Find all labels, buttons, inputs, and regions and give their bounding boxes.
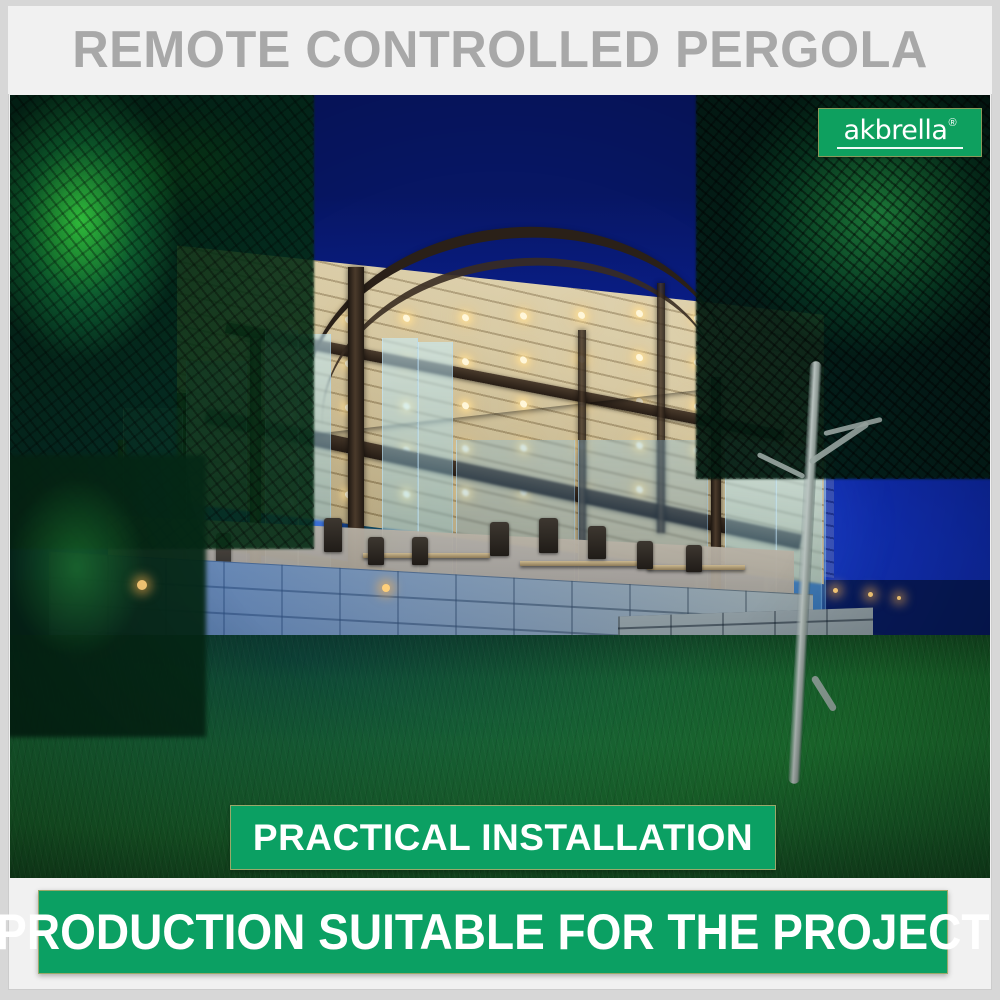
shrub-left bbox=[10, 455, 206, 737]
header-bar: REMOTE CONTROLLED PERGOLA bbox=[8, 6, 992, 94]
dining-chair bbox=[490, 522, 509, 556]
banner-practical-installation: PRACTICAL INSTALLATION bbox=[230, 805, 776, 870]
banner-label: PRACTICAL INSTALLATION bbox=[253, 817, 753, 859]
dining-chair bbox=[412, 537, 428, 565]
dining-chair bbox=[368, 537, 384, 565]
dining-chair bbox=[539, 518, 558, 553]
registered-trademark-icon: ® bbox=[948, 118, 956, 129]
distant-street-lamp bbox=[897, 596, 901, 600]
distant-street-lamp bbox=[868, 592, 873, 597]
hero-photo: akbrella ® bbox=[10, 95, 990, 878]
brand-logo[interactable]: akbrella ® bbox=[818, 108, 982, 157]
dining-chair bbox=[637, 541, 653, 569]
dining-chair bbox=[324, 518, 342, 552]
banner-production-suitable: PRODUCTION SUITABLE FOR THE PROJECT bbox=[38, 890, 948, 974]
dining-chair bbox=[588, 526, 606, 559]
brand-logo-underline bbox=[837, 147, 963, 149]
dining-table bbox=[520, 561, 638, 566]
dining-chair bbox=[686, 545, 702, 572]
page-title: REMOTE CONTROLLED PERGOLA bbox=[72, 20, 928, 80]
brand-logo-text: akbrella bbox=[843, 117, 947, 144]
poster-root: REMOTE CONTROLLED PERGOLA bbox=[0, 0, 1000, 1000]
banner-label: PRODUCTION SUITABLE FOR THE PROJECT bbox=[0, 903, 990, 961]
